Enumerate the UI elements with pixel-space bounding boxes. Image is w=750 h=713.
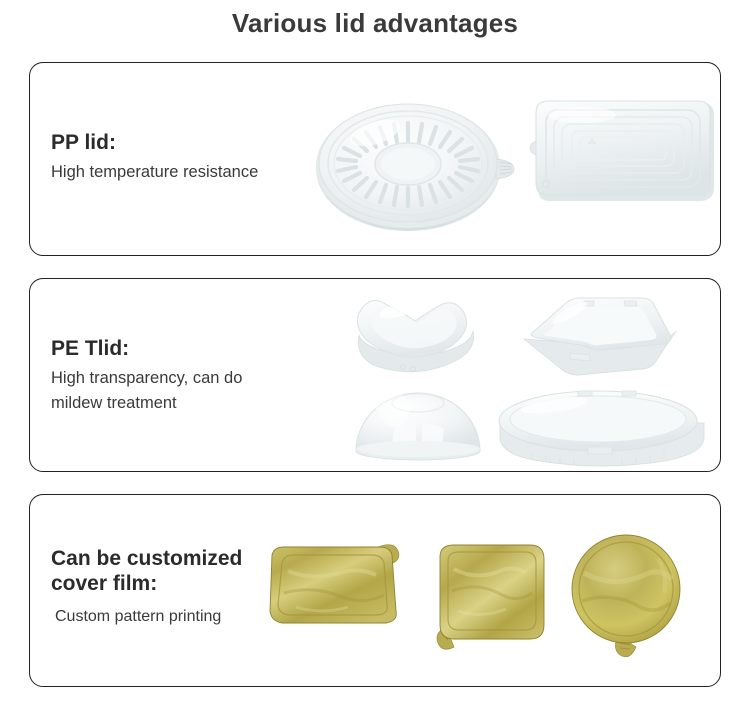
- oval-pet-lid-image: [492, 387, 712, 472]
- dome-pet-lid-image: [348, 381, 488, 471]
- card-pe-lid-subtitle: High transparency, can do mildew treatme…: [51, 366, 242, 417]
- card-pe-lid-text-block: PE Tlid: High transparency, can do milde…: [51, 337, 242, 417]
- round-foil-lid-image: [564, 529, 696, 666]
- card-pp-lid-heading: PP lid:: [51, 131, 258, 156]
- card-cover-film-heading: Can be customized cover film:: [51, 547, 242, 597]
- card-pp-lid-text-block: PP lid: High temperature resistance: [51, 131, 258, 185]
- card-pp-lid: PP lid: High temperature resistance: [29, 62, 721, 256]
- round-pp-lid-image: [311, 93, 521, 238]
- card-pp-lid-subtitle: High temperature resistance: [51, 160, 258, 186]
- heart-pet-lid-image: [343, 291, 493, 386]
- square-foil-lid-image: [428, 535, 556, 660]
- rect-pp-lid-image: [516, 89, 726, 229]
- rect-foil-lid-image: [262, 537, 412, 652]
- square-pet-lid-image: [508, 289, 693, 389]
- page-title: Various lid advantages: [0, 8, 750, 39]
- card-pe-lid-heading: PE Tlid:: [51, 337, 242, 362]
- card-cover-film: Can be customized cover film: Custom pat…: [29, 494, 721, 687]
- card-cover-film-text-block: Can be customized cover film: Custom pat…: [51, 547, 242, 629]
- card-cover-film-subtitle: Custom pattern printing: [51, 605, 242, 630]
- card-pe-lid: PE Tlid: High transparency, can do milde…: [29, 278, 721, 472]
